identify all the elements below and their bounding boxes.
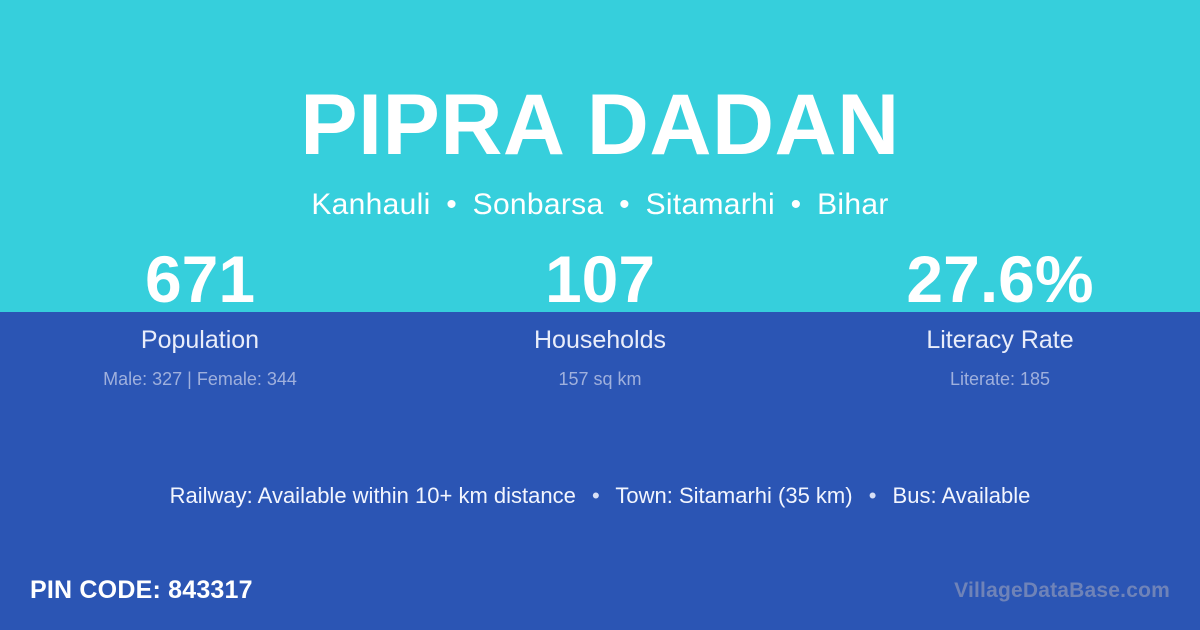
- stat-label: Literacy Rate: [800, 312, 1200, 353]
- stat-label: Population: [0, 312, 400, 353]
- stat-label: Households: [400, 312, 800, 353]
- breadcrumb-separator: •: [439, 188, 464, 221]
- breadcrumb-item-panchayat: Kanhauli: [311, 188, 430, 221]
- stat-subtext: 157 sq km: [400, 353, 800, 388]
- stat-value: 107: [400, 246, 800, 312]
- site-brand: VillageDataBase.com: [954, 580, 1170, 601]
- pin-code: PIN CODE: 843317: [30, 578, 253, 603]
- stat-value: 27.6%: [800, 246, 1200, 312]
- stat-population: 671 Population Male: 327 | Female: 344: [0, 246, 400, 388]
- infra-separator: •: [859, 483, 887, 508]
- infra-separator: •: [582, 483, 610, 508]
- breadcrumb: Kanhauli • Sonbarsa • Sitamarhi • Bihar: [0, 168, 1200, 220]
- breadcrumb-separator: •: [612, 188, 637, 221]
- card-footer: PIN CODE: 843317 VillageDataBase.com: [0, 556, 1200, 630]
- stat-literacy-rate: 27.6% Literacy Rate Literate: 185: [800, 246, 1200, 388]
- card-header: PIPRA DADAN Kanhauli • Sonbarsa • Sitama…: [0, 0, 1200, 220]
- stat-subtext: Literate: 185: [800, 353, 1200, 388]
- infra-item-bus: Bus: Available: [893, 483, 1031, 508]
- stat-subtext: Male: 327 | Female: 344: [0, 353, 400, 388]
- stat-value: 671: [0, 246, 400, 312]
- page-title: PIPRA DADAN: [0, 0, 1200, 168]
- breadcrumb-item-block: Sonbarsa: [473, 188, 604, 221]
- infra-item-town: Town: Sitamarhi (35 km): [615, 483, 852, 508]
- stat-households: 107 Households 157 sq km: [400, 246, 800, 388]
- breadcrumb-item-district: Sitamarhi: [646, 188, 775, 221]
- village-info-card: PIPRA DADAN Kanhauli • Sonbarsa • Sitama…: [0, 0, 1200, 630]
- breadcrumb-item-state: Bihar: [817, 188, 889, 221]
- infrastructure-line: Railway: Available within 10+ km distanc…: [0, 485, 1200, 507]
- breadcrumb-separator: •: [784, 188, 809, 221]
- stats-row: 671 Population Male: 327 | Female: 344 1…: [0, 246, 1200, 388]
- infra-item-railway: Railway: Available within 10+ km distanc…: [170, 483, 576, 508]
